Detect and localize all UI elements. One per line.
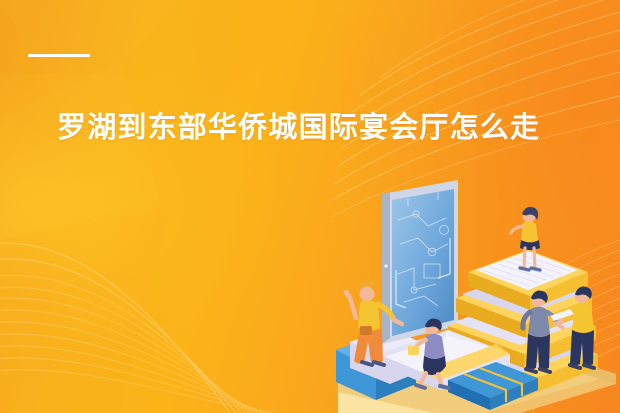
accent-rule: [28, 54, 90, 57]
article-cover-banner: 罗湖到东部华侨城国际宴会厅怎么走: [0, 0, 620, 413]
hero-illustration: [320, 178, 620, 413]
page-title: 罗湖到东部华侨城国际宴会厅怎么走: [57, 108, 577, 148]
